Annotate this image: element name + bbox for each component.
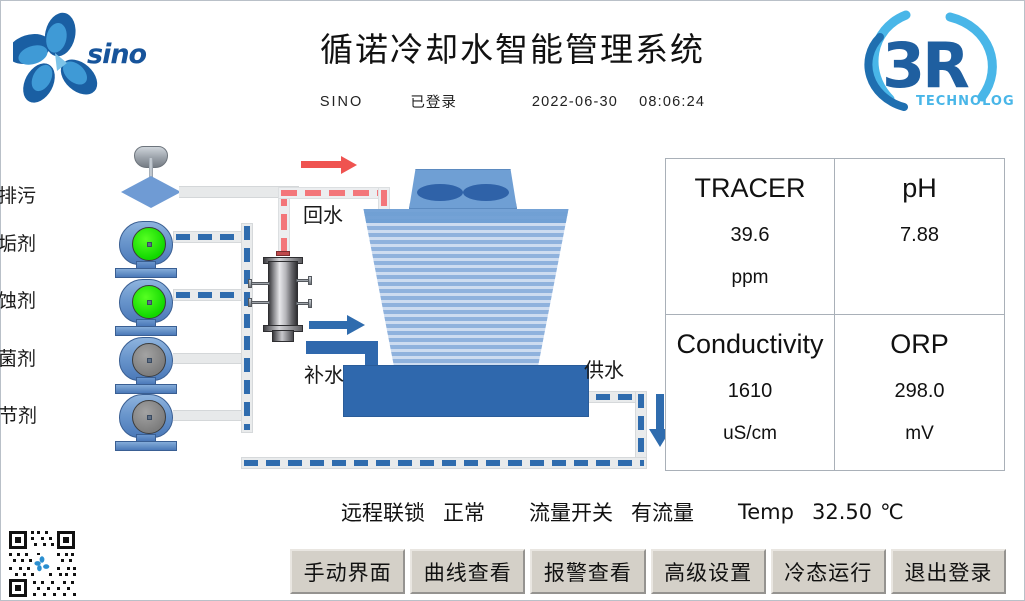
dosing-label-blowdown: 排污 (0, 181, 36, 208)
user-name: SINO (320, 94, 363, 110)
fan-blade-right-icon (463, 184, 509, 201)
header: sino 循诺冷却水智能管理系统 SINO 已登录 2022-06-30 08:… (1, 1, 1024, 123)
panel-label: pH (902, 173, 937, 204)
pump-center-dot-icon (147, 242, 152, 247)
dosing-label-antiscalant: 阻垢剂 (0, 229, 36, 256)
pump-center-dot-icon (147, 300, 152, 305)
vessel-flange-right-lower-icon (308, 299, 312, 308)
system-time: 08:06:24 (639, 94, 705, 110)
cooling-tower[interactable] (341, 169, 591, 417)
supply-flow-arrow-shaft (656, 394, 664, 432)
panel-unit: uS/cm (723, 423, 777, 445)
interlock-value: 正常 (443, 497, 485, 527)
pump-housing-icon (119, 394, 173, 438)
pipe-bottom-loop (241, 457, 647, 469)
svg-text:TECHNOLOGY: TECHNOLOGY (916, 94, 1014, 109)
button-logout[interactable]: 退出登录 (891, 549, 1006, 594)
panel-label: TRACER (694, 173, 805, 204)
pump-status-disc (132, 285, 166, 319)
vessel-flange-right-upper-icon (308, 276, 312, 285)
system-date: 2022-06-30 (532, 94, 618, 110)
label-makeup-water: 补水 (304, 359, 344, 388)
svg-text:3R: 3R (882, 29, 969, 102)
pump-corrosion-inhibitor[interactable] (115, 279, 177, 337)
temp-value: 32.50 (812, 500, 872, 524)
valve-body-right-icon (151, 176, 181, 208)
tower-fan-stack (409, 169, 517, 209)
vessel-cone-icon (272, 330, 294, 342)
status-bar: 远程联锁 正常 流量开关 有流量 Temp 32.50 ℃ (341, 494, 1013, 530)
return-flow-arrow-shaft (301, 161, 343, 168)
pump-status-disc (132, 400, 166, 434)
qr-code[interactable] (7, 529, 77, 599)
pump-base-icon (115, 384, 177, 394)
interlock-label: 远程联锁 (341, 497, 425, 527)
panel-unit: ppm (732, 267, 769, 289)
measurement-panel: TRACER 39.6 ppm pH 7.88 Conductivity 161… (665, 158, 1005, 471)
pump-housing-icon (119, 221, 173, 265)
dosing-label-ph-adjuster: pH调节剂 (0, 401, 37, 428)
valve-body-left-icon (121, 176, 151, 208)
button-trend-view[interactable]: 曲线查看 (410, 549, 525, 594)
qr-center-logo-icon (33, 555, 51, 573)
pump-base-icon (115, 441, 177, 451)
button-alarm-view[interactable]: 报警查看 (530, 549, 645, 594)
panel-unit: mV (905, 423, 934, 445)
flow-switch-value: 有流量 (631, 497, 694, 527)
button-advanced-settings[interactable]: 高级设置 (651, 549, 766, 594)
panel-cell-orp: ORP 298.0 mV (835, 315, 1004, 471)
button-manual-interface[interactable]: 手动界面 (290, 549, 405, 594)
pump-status-disc (132, 227, 166, 261)
fan-blade-left-icon (417, 184, 463, 201)
pump-center-dot-icon (147, 358, 152, 363)
panel-value: 298.0 (894, 380, 944, 403)
pipe-chemical-riser (241, 223, 253, 433)
tower-top-band (341, 209, 591, 377)
pump-housing-icon (119, 279, 173, 323)
vessel-shell-icon (268, 261, 298, 331)
vessel-top-nub-icon (276, 251, 290, 256)
panel-cell-tracer: TRACER 39.6 ppm (666, 159, 835, 315)
vessel-port-left-upper-icon (250, 282, 270, 285)
panel-cell-conductivity: Conductivity 1610 uS/cm (666, 315, 835, 471)
button-bar: 手动界面 曲线查看 报警查看 高级设置 冷态运行 退出登录 (290, 549, 1006, 594)
pump-base-icon (115, 326, 177, 336)
temp-unit: ℃ (880, 500, 904, 524)
panel-value: 39.6 (731, 224, 770, 247)
panel-cell-ph: pH 7.88 (835, 159, 1004, 315)
vessel-port-left-lower-icon (250, 301, 270, 304)
panel-value: 1610 (728, 380, 773, 403)
pump-biocide[interactable] (115, 337, 177, 395)
panel-label: Conductivity (676, 329, 823, 360)
label-return-water: 回水 (303, 199, 343, 228)
dosing-label-biocide: 杀菌剂 (0, 344, 36, 371)
flow-switch-label: 流量开关 (529, 497, 613, 527)
dosing-label-corrosion-inhibitor: 缓蚀剂 (0, 286, 36, 313)
pump-center-dot-icon (147, 415, 152, 420)
water-treatment-controller-vessel[interactable] (259, 251, 307, 345)
pump-base-icon (115, 268, 177, 278)
hmi-screen: sino 循诺冷却水智能管理系统 SINO 已登录 2022-06-30 08:… (0, 0, 1025, 601)
pump-antiscalant[interactable] (115, 221, 177, 279)
panel-label: ORP (890, 329, 949, 360)
pump-ph-adjuster[interactable] (115, 394, 177, 452)
blowdown-valve[interactable] (114, 146, 188, 208)
login-status: 已登录 (410, 91, 457, 112)
pipe-antiscalant-feed (173, 231, 251, 243)
vessel-flange-left-upper-icon (248, 279, 252, 288)
pipe-corrosion-feed (173, 289, 251, 301)
temp-label: Temp (738, 500, 794, 524)
vessel-flange-left-lower-icon (248, 298, 252, 307)
button-cold-standby-run[interactable]: 冷态运行 (771, 549, 886, 594)
pump-housing-icon (119, 337, 173, 381)
panel-value: 7.88 (900, 224, 939, 247)
tower-basin (343, 365, 589, 417)
label-supply-water: 供水 (584, 354, 624, 383)
3r-technology-logo: 3R TECHNOLOGY (854, 7, 1014, 119)
pump-status-disc (132, 343, 166, 377)
